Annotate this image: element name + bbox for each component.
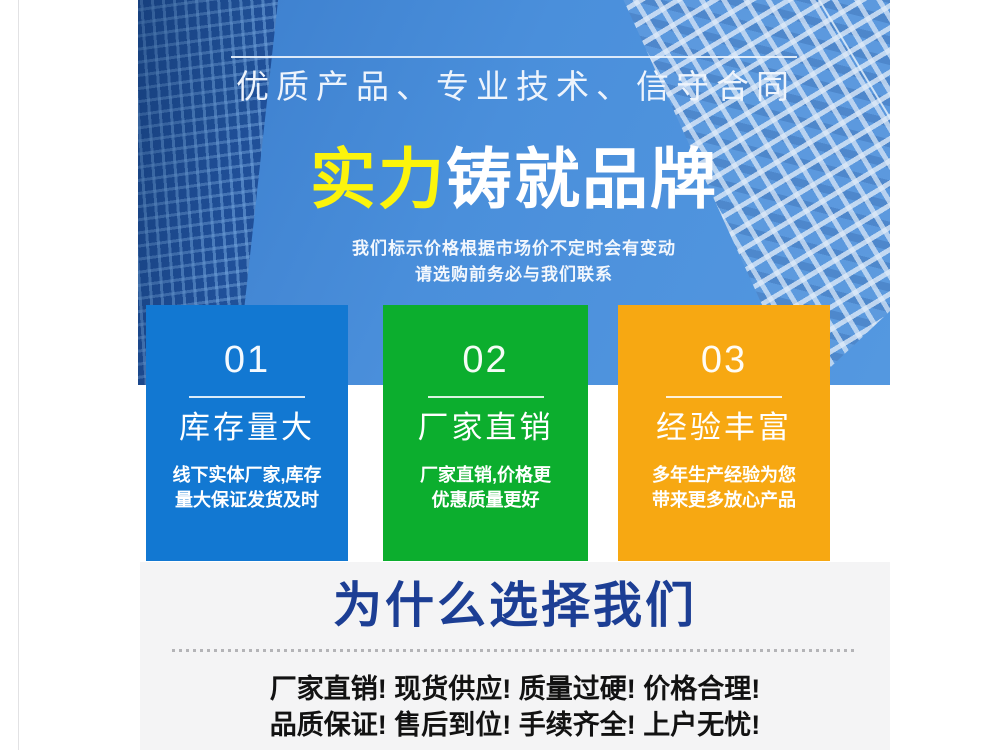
why-choose-us-panel: 为什么选择我们 厂家直销! 现货供应! 质量过硬! 价格合理! 品质保证! 售后… (140, 562, 890, 750)
card-divider (428, 396, 544, 398)
card-title: 厂家直销 (418, 412, 554, 443)
card-number: 03 (701, 341, 747, 379)
card-divider (666, 396, 782, 398)
dotted-divider (172, 649, 858, 652)
card-description-line-1: 厂家直销,价格更 (398, 463, 574, 488)
headline-highlight: 实力 (310, 142, 446, 216)
promo-banner: 优质产品、专业技术、信守合同 实力铸就品牌 我们标示价格根据市场价不定时会有变动… (0, 0, 1000, 750)
hero-subtitle-line-1: 我们标示价格根据市场价不定时会有变动 (138, 240, 890, 257)
slogan-line-1: 厂家直销! 现货供应! 质量过硬! 价格合理! (140, 676, 890, 703)
hero-subtitle-line-2: 请选购前务必与我们联系 (138, 266, 890, 283)
feature-card-01[interactable]: 01 库存量大 线下实体厂家,库存 量大保证发货及时 (146, 305, 348, 561)
feature-cards: 01 库存量大 线下实体厂家,库存 量大保证发货及时 02 厂家直销 厂家直销,… (0, 305, 1000, 561)
feature-card-03[interactable]: 03 经验丰富 多年生产经验为您 带来更多放心产品 (618, 305, 830, 561)
card-description: 线下实体厂家,库存 量大保证发货及时 (159, 463, 335, 513)
card-number: 02 (462, 341, 508, 379)
card-description-line-2: 带来更多放心产品 (636, 488, 812, 513)
card-divider (189, 396, 305, 398)
card-description-line-1: 线下实体厂家,库存 (159, 463, 335, 488)
hero-kicker-text: 优质产品、专业技术、信守合同 (232, 58, 796, 116)
slogan-line-2: 品质保证! 售后到位! 手续齐全! 上户无忧! (140, 712, 890, 739)
card-number: 01 (224, 341, 270, 379)
card-title: 库存量大 (179, 412, 315, 443)
feature-card-02[interactable]: 02 厂家直销 厂家直销,价格更 优惠质量更好 (383, 305, 588, 561)
card-description-line-2: 优惠质量更好 (398, 488, 574, 513)
card-title: 经验丰富 (656, 412, 792, 443)
card-description: 厂家直销,价格更 优惠质量更好 (398, 463, 574, 513)
card-description-line-2: 量大保证发货及时 (159, 488, 335, 513)
headline-rest: 铸就品牌 (446, 142, 718, 216)
hero-kicker-block: 优质产品、专业技术、信守合同 (138, 56, 890, 116)
why-choose-us-heading: 为什么选择我们 (140, 582, 890, 631)
card-description: 多年生产经验为您 带来更多放心产品 (636, 463, 812, 513)
hero-headline: 实力铸就品牌 (138, 146, 890, 212)
card-description-line-1: 多年生产经验为您 (636, 463, 812, 488)
